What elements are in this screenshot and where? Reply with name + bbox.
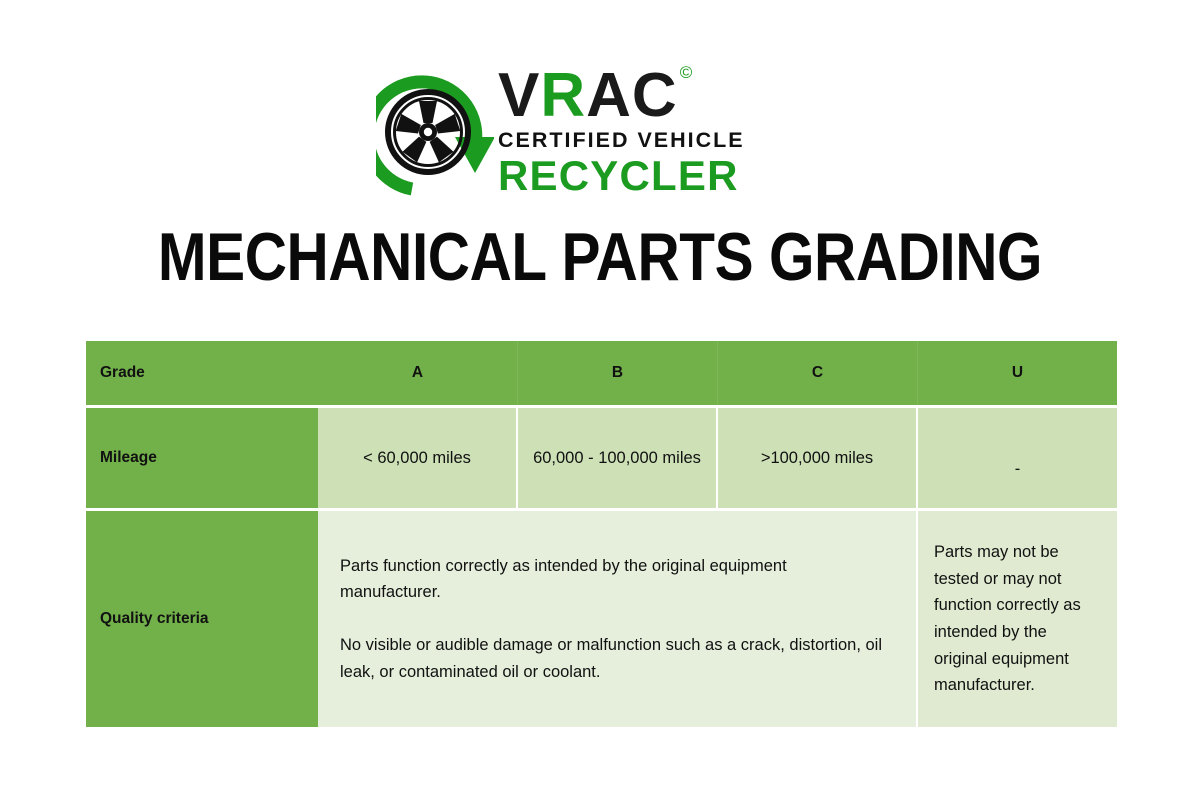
header-cell-a: A	[318, 341, 518, 405]
mileage-cell-b: 60,000 - 100,000 miles	[518, 408, 718, 508]
table-row-quality-criteria: Quality criteria Parts function correctl…	[86, 511, 1117, 727]
mileage-cell-c: >100,000 miles	[718, 408, 918, 508]
quality-paragraph-2: No visible or audible damage or malfunct…	[340, 632, 890, 685]
logo-letter-r: R	[540, 61, 586, 130]
quality-cell-u: Parts may not be tested or may not funct…	[918, 511, 1117, 727]
header-cell-u: U	[918, 341, 1117, 405]
logo-letters-ac: AC	[586, 61, 678, 130]
quality-paragraph-1: Parts function correctly as intended by …	[340, 553, 890, 606]
vrac-logo: VRAC© CERTIFIED VEHICLE RECYCLER	[376, 58, 836, 206]
header-cell-grade: Grade	[86, 341, 318, 405]
page-root: VRAC© CERTIFIED VEHICLE RECYCLER MECHANI…	[0, 0, 1200, 800]
logo-vrac-text: VRAC©	[498, 67, 745, 126]
logo-recycler-text: RECYCLER	[498, 155, 745, 197]
table-row-mileage: Mileage < 60,000 miles 60,000 - 100,000 …	[86, 408, 1117, 508]
mechanical-parts-grading-table: Grade A B C U Mileage < 60,000 miles 60,…	[86, 341, 1117, 727]
copyright-icon: ©	[680, 63, 694, 82]
header-cell-b: B	[518, 341, 718, 405]
table-header-row: Grade A B C U	[86, 341, 1117, 405]
mileage-cell-a: < 60,000 miles	[318, 408, 518, 508]
quality-cell-abc: Parts function correctly as intended by …	[318, 511, 918, 727]
mileage-cell-u: -	[918, 408, 1117, 508]
logo-wordmark: VRAC© CERTIFIED VEHICLE RECYCLER	[498, 67, 745, 198]
row-label-mileage: Mileage	[86, 408, 318, 508]
row-label-quality-criteria: Quality criteria	[86, 511, 318, 727]
page-title: MECHANICAL PARTS GRADING	[84, 218, 1116, 296]
header-cell-c: C	[718, 341, 918, 405]
logo-tagline: CERTIFIED VEHICLE	[498, 128, 745, 153]
logo-letter-v: V	[498, 61, 540, 130]
recycle-wheel-icon	[376, 67, 494, 197]
